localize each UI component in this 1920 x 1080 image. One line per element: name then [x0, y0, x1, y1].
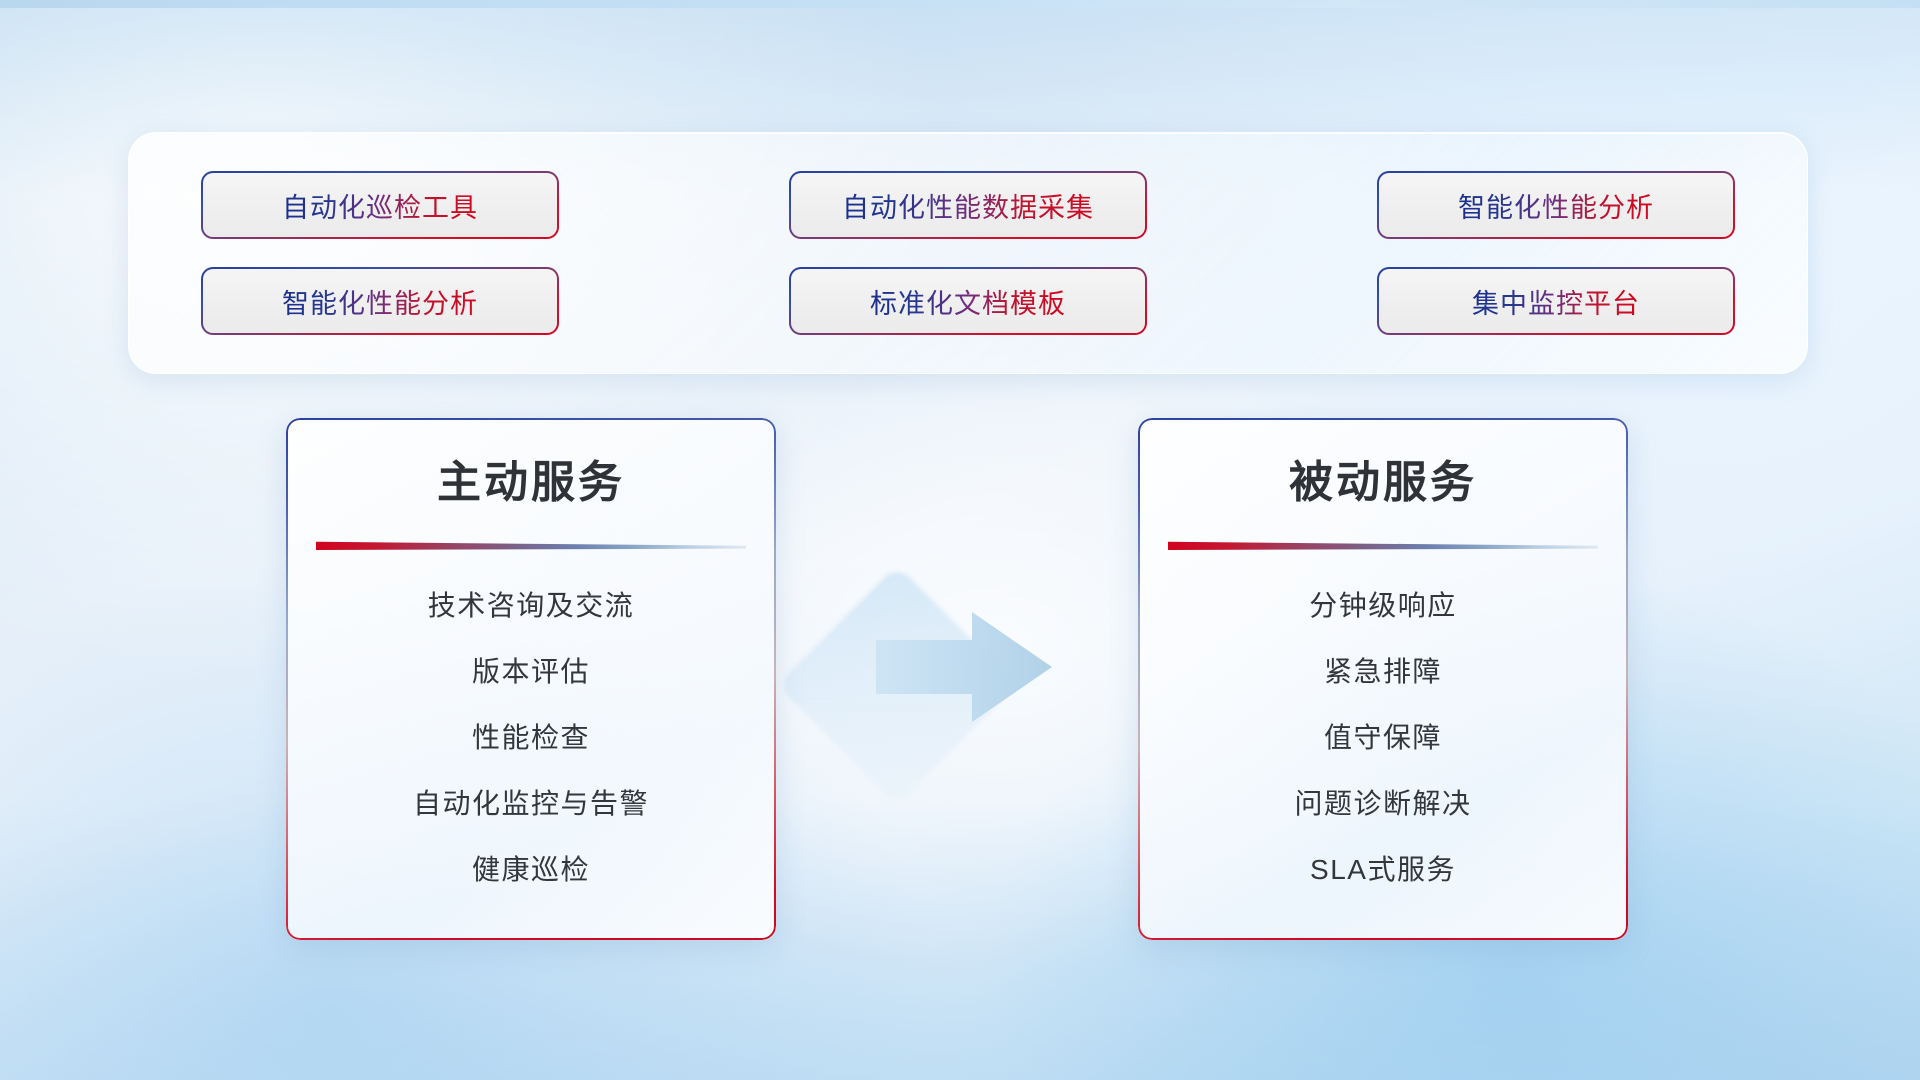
list-item: 紧急排障 — [1324, 650, 1442, 690]
capability-pill-auto-performance-collection[interactable]: 自动化性能数据采集 — [789, 171, 1147, 239]
service-card-passive: 被动服务 分钟级响应 紧急排障 值守保障 问题诊断解决 SLA式服务 — [1138, 418, 1628, 940]
list-item: 性能检查 — [472, 716, 590, 756]
list-item: 自动化监控与告警 — [413, 782, 649, 822]
capability-pill-label: 自动化巡检工具 — [282, 186, 478, 225]
list-item: 值守保障 — [1324, 716, 1442, 756]
service-list-active: 技术咨询及交流 版本评估 性能检查 自动化监控与告警 健康巡检 — [286, 584, 776, 888]
capability-pill-label: 集中监控平台 — [1472, 282, 1640, 321]
capability-pill-intelligent-performance-analysis-bottom[interactable]: 智能化性能分析 — [201, 267, 559, 335]
flow-arrow-right-icon — [876, 612, 1052, 722]
list-item: 版本评估 — [472, 650, 590, 690]
card-divider-passive — [1168, 540, 1598, 550]
service-card-active: 主动服务 技术咨询及交流 版本评估 性能检查 自动化监控与告警 健康巡检 — [286, 418, 776, 940]
capability-pill-centralized-monitoring-platform[interactable]: 集中监控平台 — [1377, 267, 1735, 335]
card-divider-bar — [1168, 540, 1598, 550]
list-item: 问题诊断解决 — [1294, 782, 1471, 822]
list-item: 技术咨询及交流 — [428, 584, 635, 624]
capability-panel: 自动化巡检工具 自动化性能数据采集 智能化性能分析 智能化性能分析 标准化文档模… — [128, 132, 1808, 374]
card-title-active: 主动服务 — [286, 446, 776, 510]
capability-pill-standard-doc-template[interactable]: 标准化文档模板 — [789, 267, 1147, 335]
service-list-passive: 分钟级响应 紧急排障 值守保障 问题诊断解决 SLA式服务 — [1138, 584, 1628, 888]
card-title-passive: 被动服务 — [1138, 446, 1628, 510]
capability-row-2: 智能化性能分析 标准化文档模板 集中监控平台 — [201, 267, 1735, 335]
capability-pill-label: 智能化性能分析 — [1458, 186, 1654, 225]
list-item: SLA式服务 — [1310, 848, 1456, 888]
capability-pill-auto-inspection-tool[interactable]: 自动化巡检工具 — [201, 171, 559, 239]
capability-pill-label: 智能化性能分析 — [282, 282, 478, 321]
list-item: 健康巡检 — [472, 848, 590, 888]
card-divider-active — [316, 540, 746, 550]
capability-pill-label: 自动化性能数据采集 — [842, 186, 1094, 225]
capability-pill-intelligent-performance-analysis-top[interactable]: 智能化性能分析 — [1377, 171, 1735, 239]
card-divider-bar — [316, 540, 746, 550]
capability-pill-label: 标准化文档模板 — [870, 282, 1066, 321]
capability-row-1: 自动化巡检工具 自动化性能数据采集 智能化性能分析 — [201, 171, 1735, 239]
list-item: 分钟级响应 — [1309, 584, 1457, 624]
